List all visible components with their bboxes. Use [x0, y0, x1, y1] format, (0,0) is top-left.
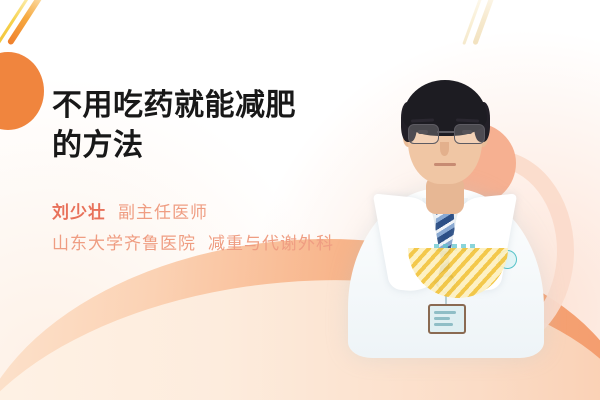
glasses-lens-right	[454, 124, 485, 144]
diagonal-streaks-top-left	[26, 0, 96, 52]
speaker-job-title: 副主任医师	[118, 198, 208, 223]
page-title: 不用吃药就能减肥 的方法	[52, 86, 342, 166]
doctor-portrait	[330, 58, 560, 348]
glasses-icon	[408, 124, 483, 143]
id-badge	[428, 304, 466, 334]
mouth	[434, 163, 456, 166]
glasses-lens-left	[408, 124, 439, 144]
glasses-bridge	[437, 131, 454, 133]
affiliation-department: 减重与代谢外科	[208, 229, 334, 254]
speaker-name: 刘少壮	[52, 198, 106, 223]
speaker-affiliation: 山东大学齐鲁医院 减重与代谢外科	[52, 229, 334, 254]
id-badge-line	[434, 311, 456, 314]
speaker-byline: 刘少壮 副主任医师	[52, 198, 208, 223]
id-badge-line	[434, 323, 453, 326]
title-line-1: 不用吃药就能减肥	[52, 86, 342, 126]
affiliation-hospital: 山东大学齐鲁医院	[52, 229, 196, 254]
title-line-2: 的方法	[52, 126, 342, 166]
nose	[440, 142, 449, 156]
id-badge-line	[434, 317, 450, 320]
presentation-slide: 不用吃药就能减肥 的方法 刘少壮 副主任医师 山东大学齐鲁医院 减重与代谢外科	[0, 0, 600, 400]
diagonal-streaks-top-right	[476, 0, 522, 46]
